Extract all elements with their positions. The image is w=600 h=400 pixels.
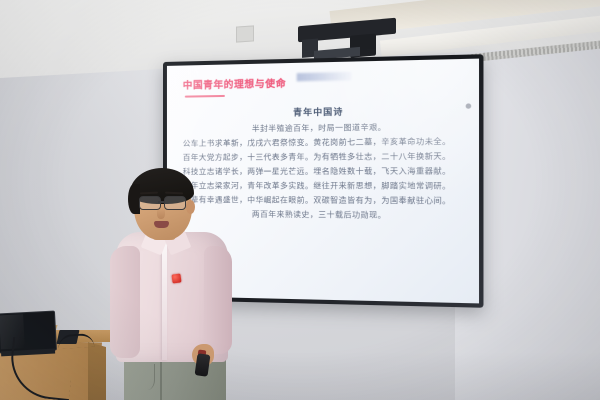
poem-title: 青年中国诗 xyxy=(177,103,468,119)
title-underline xyxy=(185,95,225,98)
poem-line: 百年大党方起步，十三代表多青年。为有牺牲多壮志，二十八年换新天。 xyxy=(181,152,464,161)
ear xyxy=(186,200,195,214)
mouth xyxy=(154,221,169,228)
recessed-ceiling-fixture xyxy=(236,25,254,42)
party-emblem-pin xyxy=(171,273,181,283)
screen-reflection-hotspot xyxy=(297,72,352,81)
poem-line: 公车上书求革新，戊戌六君祭惊变。黄花岗前七二墓，辛亥革命功未全。 xyxy=(181,137,464,147)
eyeglasses-bridge xyxy=(158,201,165,203)
eyeglasses-lens-right xyxy=(164,196,186,210)
ir-sensor xyxy=(466,103,472,108)
lectern-side-panel xyxy=(88,342,106,400)
nose xyxy=(157,207,165,219)
arm-left xyxy=(110,246,140,358)
trouser-pocket xyxy=(136,364,155,390)
lecture-room-photo: 中国青年的理想与使命 青年中国诗 半封半殖逾百年，时局一图道辛艰。 公车上书求革… xyxy=(0,0,600,400)
poem-line: 半封半殖逾百年，时局一图道辛艰。 xyxy=(181,123,464,134)
shirt-placket xyxy=(162,236,167,360)
arm-right xyxy=(204,246,232,354)
presenter xyxy=(108,166,240,400)
trouser-crease xyxy=(160,362,162,400)
